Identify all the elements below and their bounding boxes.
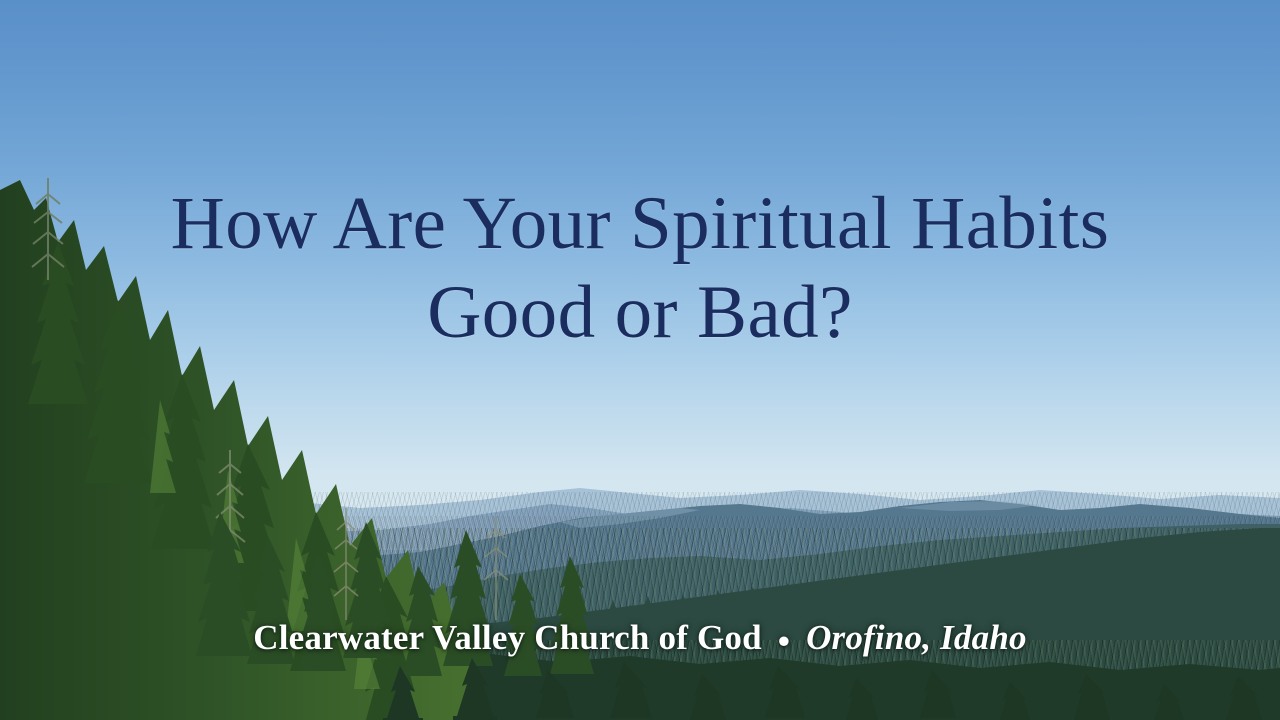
church-name: Clearwater Valley Church of God — [253, 618, 762, 657]
footer-caption: Clearwater Valley Church of God•Orofino,… — [0, 618, 1280, 665]
church-location: Orofino, Idaho — [806, 618, 1027, 657]
sermon-title-slide: How Are Your Spiritual Habits Good or Ba… — [0, 0, 1280, 720]
bullet-separator-icon: • — [778, 622, 790, 662]
